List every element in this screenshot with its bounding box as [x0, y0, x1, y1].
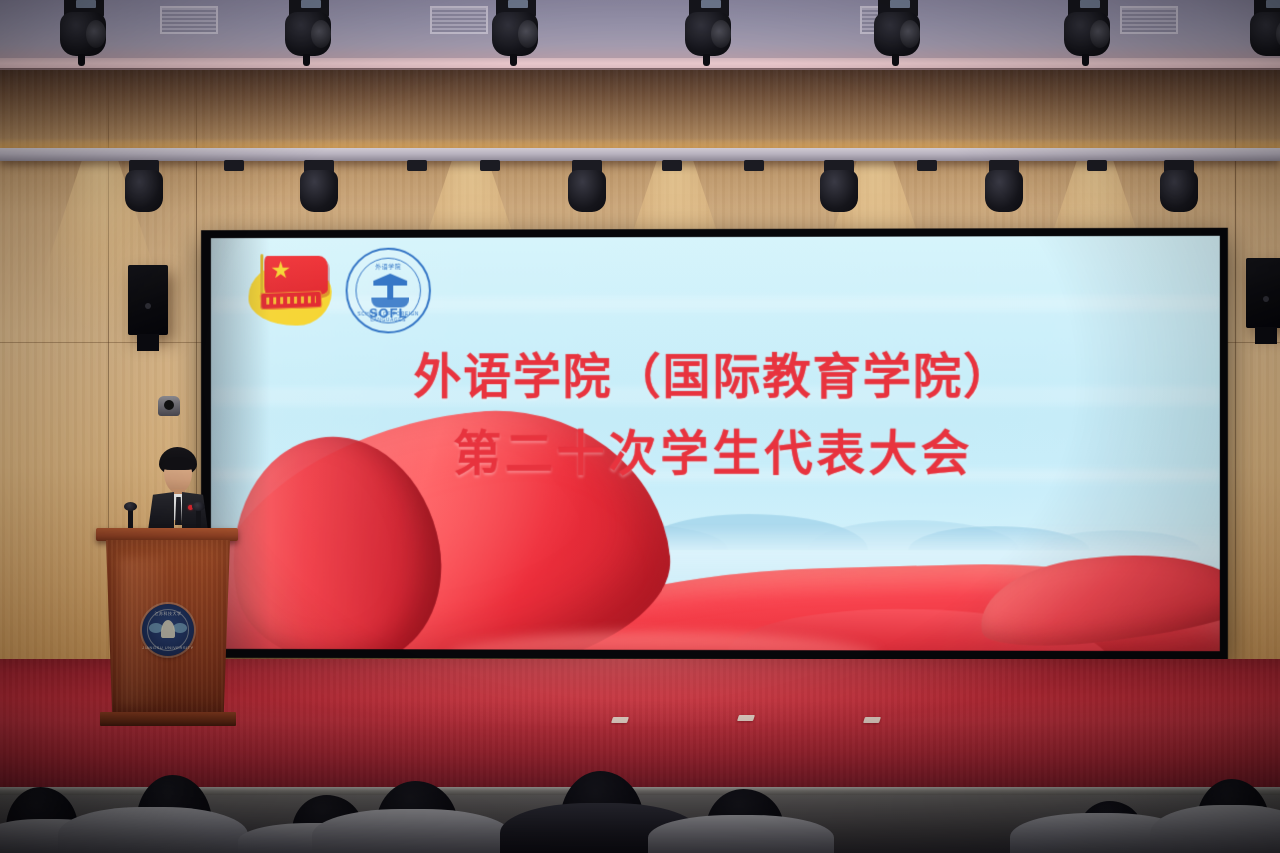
truss-stage-light — [405, 160, 429, 180]
seal-wing-right — [173, 623, 187, 633]
microphone-capsule — [192, 502, 205, 511]
camera-lens — [164, 400, 174, 410]
screen-title-line-1: 外语学院（国际教育学院） — [211, 348, 1220, 405]
light-lens — [1090, 20, 1110, 48]
audience-shoulders — [312, 809, 512, 853]
light-cap — [662, 160, 682, 171]
light-cap — [1087, 160, 1107, 171]
emblem-banner — [260, 291, 322, 310]
stage-light-spill — [180, 659, 1080, 729]
hanging-stage-light — [490, 0, 542, 70]
truss-stage-light — [660, 160, 684, 180]
speaking-podium: 江苏科技大学 JIANGSU UNIVERSITY — [100, 528, 234, 732]
light-label-tag — [890, 0, 910, 8]
truss-stage-light — [742, 160, 766, 180]
light-stem — [1082, 54, 1089, 66]
light-body — [985, 170, 1023, 212]
light-stem — [510, 54, 517, 66]
light-label-tag — [76, 0, 96, 8]
light-lens — [518, 20, 538, 48]
light-label-tag — [301, 0, 321, 8]
light-body — [300, 170, 338, 212]
truss-stage-light — [222, 160, 246, 180]
light-label-tag — [508, 0, 528, 8]
light-stem — [303, 54, 310, 66]
light-lens — [900, 20, 920, 48]
light-label-tag — [701, 0, 721, 8]
truss-stage-light — [1160, 160, 1198, 216]
hanging-stage-light — [1062, 0, 1114, 70]
hanging-stage-light — [872, 0, 924, 70]
auditorium-scene: 外语学院 SOFL SCHOOL OF FOREIGN LANGUAGES 外语… — [0, 0, 1280, 853]
podium-desktop — [96, 528, 238, 541]
wall-mounted-loudspeaker-right — [1246, 258, 1280, 328]
hanging-stage-light — [1248, 0, 1280, 70]
screen-title-block: 外语学院（国际教育学院） 第二十次学生代表大会 — [211, 348, 1220, 482]
speaker-mount — [1255, 327, 1277, 344]
light-cap — [480, 160, 500, 171]
truss-stage-light — [820, 160, 858, 216]
audience-shoulders — [1150, 805, 1280, 853]
light-stem — [78, 54, 85, 66]
speaker-mount — [137, 334, 159, 351]
floor-marker-tape — [863, 717, 881, 723]
screen-title-line-2: 第二十次学生代表大会 — [211, 426, 1220, 483]
light-lens — [311, 20, 331, 48]
audience-shoulders — [648, 815, 834, 853]
light-body — [1160, 170, 1198, 212]
emblem-arc-bottom: SCHOOL OF FOREIGN LANGUAGES — [348, 311, 429, 323]
light-lens — [86, 20, 106, 48]
light-label-tag — [1080, 0, 1100, 8]
light-stem — [892, 54, 899, 66]
ceiling-vent — [160, 6, 218, 34]
podium-base — [100, 712, 236, 726]
sofl-emblem-icon: 外语学院 SOFL SCHOOL OF FOREIGN LANGUAGES — [346, 248, 431, 334]
light-stem — [703, 54, 710, 66]
light-cap — [917, 160, 937, 171]
truss-stage-light — [478, 160, 502, 180]
emblem-arc-top: 外语学院 — [348, 262, 429, 271]
university-seal-icon: 江苏科技大学 JIANGSU UNIVERSITY — [142, 604, 194, 656]
hanging-stage-light — [683, 0, 735, 70]
floor-marker-tape — [611, 717, 629, 723]
light-body — [125, 170, 163, 212]
ceiling-vent — [430, 6, 488, 34]
hanging-stage-light — [58, 0, 110, 70]
light-label-tag — [1266, 0, 1280, 8]
light-cap — [224, 160, 244, 171]
microphone-capsule — [124, 502, 137, 511]
ceiling-vent — [1120, 6, 1178, 34]
led-screen-bezel: 外语学院 SOFL SCHOOL OF FOREIGN LANGUAGES 外语… — [201, 228, 1228, 661]
truss-stage-light — [1085, 160, 1109, 180]
light-cap — [744, 160, 764, 171]
communist-youth-league-emblem-icon — [245, 252, 336, 330]
speaker-driver — [1263, 296, 1269, 302]
light-body — [820, 170, 858, 212]
truss-stage-light — [300, 160, 338, 216]
truss-stage-light — [125, 160, 163, 216]
truss-stage-light — [985, 160, 1023, 216]
floor-marker-tape — [737, 715, 755, 721]
audience-shoulders — [58, 807, 248, 853]
light-cap — [407, 160, 427, 171]
truss-stage-light — [568, 160, 606, 216]
wall-mounted-loudspeaker-left — [128, 265, 168, 335]
led-screen[interactable]: 外语学院 SOFL SCHOOL OF FOREIGN LANGUAGES 外语… — [211, 236, 1220, 651]
light-body — [568, 170, 606, 212]
seal-text-bottom: JIANGSU UNIVERSITY — [142, 645, 194, 650]
truss-stage-light — [915, 160, 939, 180]
ceiling-camera-left — [158, 396, 180, 416]
seal-text-top: 江苏科技大学 — [142, 611, 194, 617]
presenter — [143, 447, 213, 537]
light-lens — [711, 20, 731, 48]
speaker-driver — [145, 303, 151, 309]
hanging-stage-light — [283, 0, 335, 70]
audience-foreground — [0, 756, 1280, 853]
